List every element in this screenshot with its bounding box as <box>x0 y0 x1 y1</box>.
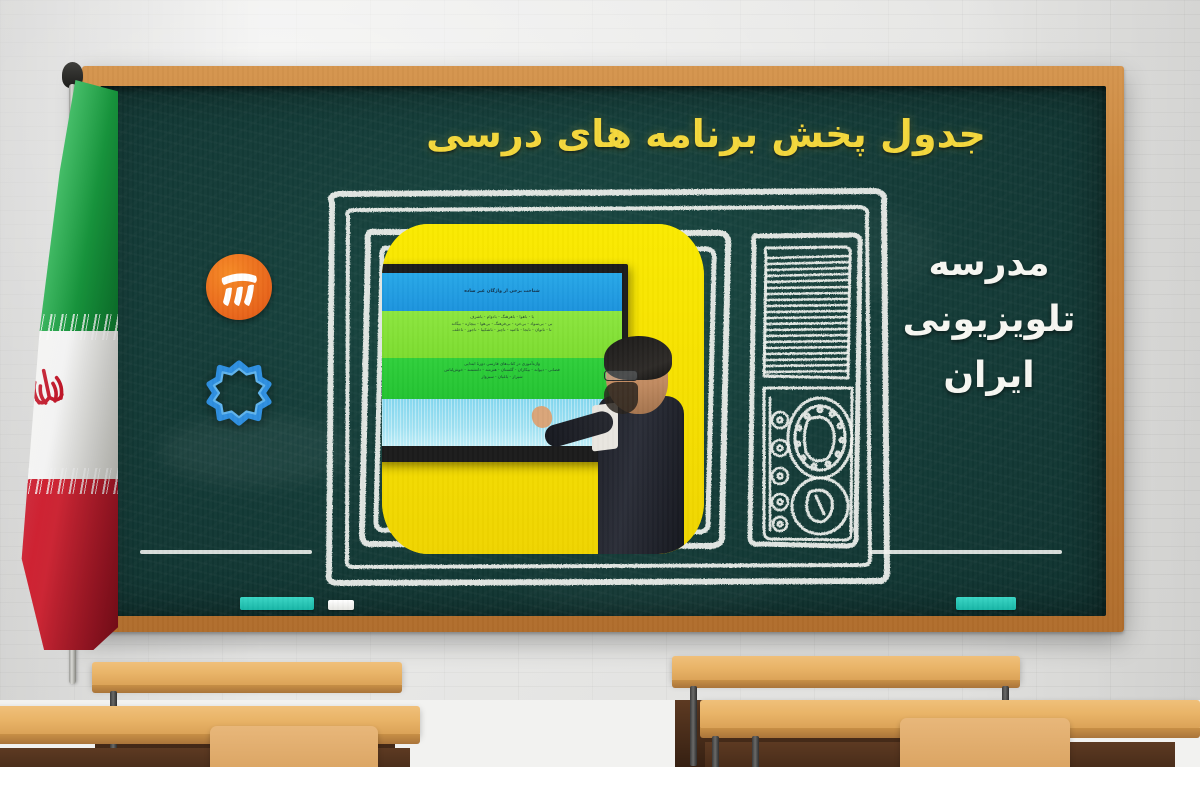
tv-button-column <box>770 398 788 531</box>
program-name-line-1: مدرسه <box>894 236 1084 292</box>
slide-header: شناخت برخی از واژگان غیر ساده <box>382 273 622 311</box>
eraser-left[interactable] <box>240 597 314 610</box>
flag-cloth <box>6 80 118 650</box>
flag-kufic-script-top <box>6 314 118 340</box>
chalkboard-frame: جدول پخش برنامه های درسی مدرسه تلویزیونی… <box>82 66 1124 632</box>
slide-header-text: شناخت برخی از واژگان غیر ساده <box>464 288 540 295</box>
program-name-line-2: تلویزیونی <box>894 292 1084 348</box>
program-name-line-3: ایران <box>894 348 1084 404</box>
desk-back-right-edge <box>672 680 1020 688</box>
tv-photo-inset: شناخت برخی از واژگان غیر ساده با - باهوا… <box>382 224 704 554</box>
teacher-glasses <box>604 370 638 381</box>
floor-strip <box>0 767 1200 799</box>
logo-group <box>196 254 282 430</box>
tv-tuner-dial-large <box>788 398 852 478</box>
flag-red-band <box>6 479 118 650</box>
tv-tuner-dial-small <box>792 478 848 534</box>
chalkboard: جدول پخش برنامه های درسی مدرسه تلویزیونی… <box>100 86 1106 616</box>
irib-logo-icon <box>206 254 272 320</box>
flag-kufic-script-bottom <box>6 468 118 494</box>
ministry-of-education-logo <box>202 356 276 430</box>
teacher-figure <box>582 334 704 554</box>
chalk-ledge-line-right <box>870 550 1062 554</box>
flag-emblem-icon <box>19 361 77 422</box>
slide-band-a-line-3: نا - ناتوان - نابجا - ناامید - ناچیز - ن… <box>387 327 617 334</box>
iran-flag <box>6 80 118 650</box>
desk-back-right <box>672 656 1020 682</box>
speaker-grille-lines <box>765 256 848 372</box>
eraser-right[interactable] <box>956 597 1016 610</box>
classroom-scene: جدول پخش برنامه های درسی مدرسه تلویزیونی… <box>0 0 1200 799</box>
flag-green-band <box>6 80 118 331</box>
desk-back-right-leg <box>690 686 697 766</box>
desk-back-left <box>92 662 402 687</box>
tv-chalk-drawing: شناخت برخی از واژگان غیر ساده با - باهوا… <box>318 180 898 594</box>
program-name: مدرسه تلویزیونی ایران <box>894 236 1084 403</box>
page-title: جدول پخش برنامه های درسی <box>340 112 1072 156</box>
irib-logo <box>206 254 272 320</box>
teacher-beard <box>604 382 638 414</box>
desk-back-left-edge <box>92 685 402 693</box>
chalk-ledge-line-left <box>140 550 312 554</box>
chalk-stick[interactable] <box>328 600 354 610</box>
